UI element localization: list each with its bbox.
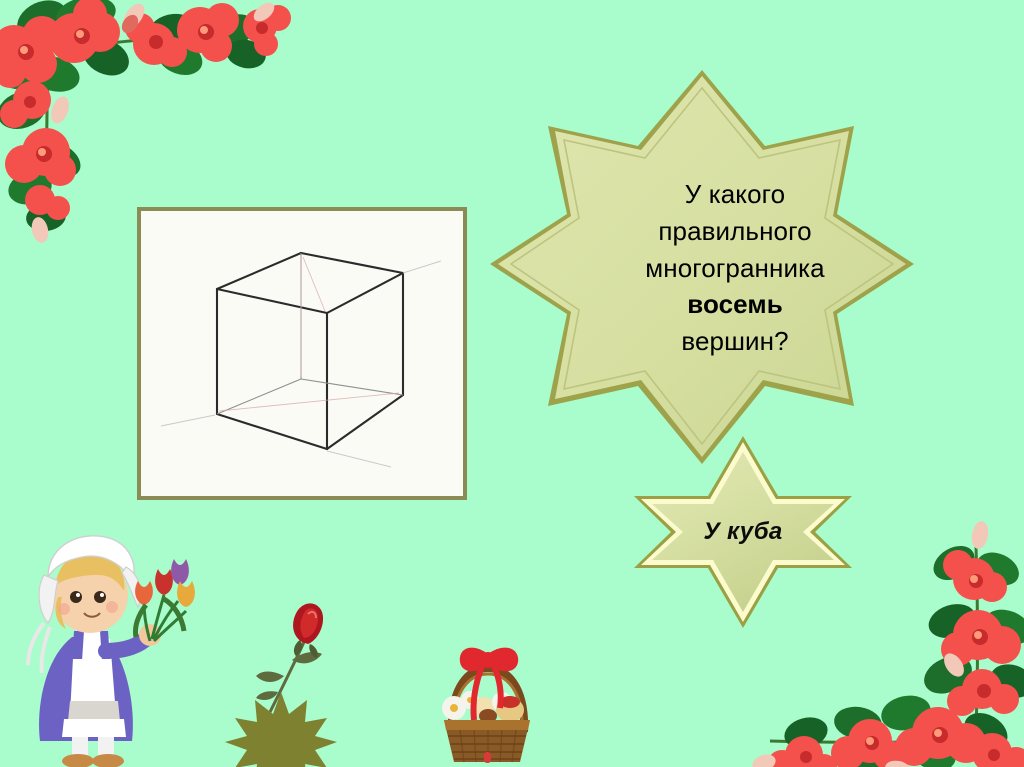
girl-with-tulips-icon <box>14 519 194 767</box>
question-line-2: правильного <box>658 213 811 250</box>
flowers-top-left-corner-icon <box>0 0 284 242</box>
question-line-5: вершин? <box>681 323 788 360</box>
cube-drawing-icon <box>141 211 463 496</box>
olive-starburst-icon <box>225 692 337 767</box>
question-line-4-emphasis: восемь <box>687 286 783 323</box>
question-line-3: многогранника <box>645 250 824 287</box>
question-text-block: У какого правильного многогранника восем… <box>570 110 900 426</box>
question-star-card: У какого правильного многогранника восем… <box>482 68 922 468</box>
question-line-1: У какого <box>685 176 785 213</box>
flowers-bottom-right-corner-icon <box>730 517 1024 767</box>
flower-basket-icon <box>424 636 550 767</box>
slide-canvas: У какого правильного многогранника восем… <box>0 0 1024 767</box>
cube-illustration-frame <box>137 207 467 500</box>
